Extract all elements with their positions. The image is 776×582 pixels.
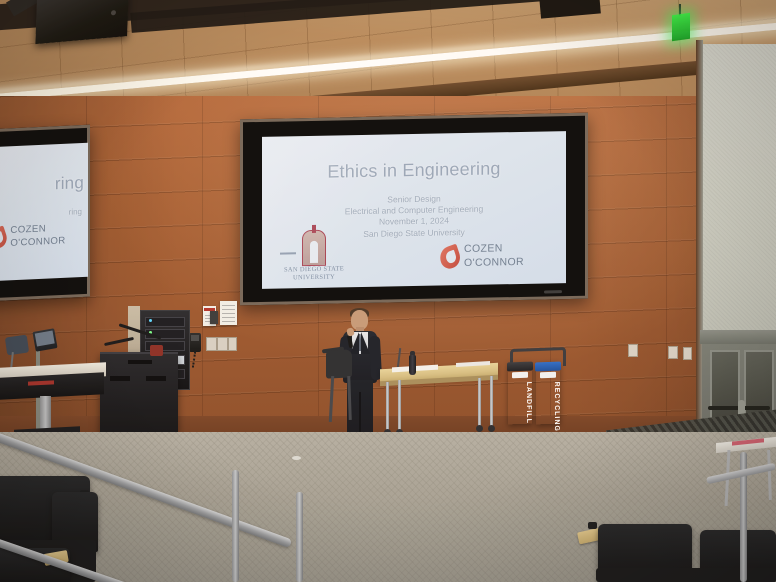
- light-switch-plate[interactable]: [217, 337, 228, 351]
- cabinet-handle[interactable]: [146, 376, 166, 381]
- table-leg: [478, 378, 481, 426]
- presenter-leg-split: [359, 392, 361, 436]
- main-projection-screen: Ethics in Engineering Senior Design Elec…: [240, 113, 588, 306]
- outlet-plate[interactable]: [628, 344, 638, 357]
- sdsu-logo-text: SAN DIEGO STATE UNIVERSITY: [278, 265, 350, 283]
- status-led: [149, 319, 152, 322]
- sdsu-line2: UNIVERSITY: [278, 273, 350, 283]
- secondary-slide-title: ring: [55, 173, 88, 195]
- flame-icon: [437, 244, 463, 271]
- bin-lid[interactable]: [507, 362, 533, 372]
- stage-chair[interactable]: [326, 349, 352, 378]
- secondary-cozen-oconnor-logo: COZEN O'CONNOR: [0, 221, 84, 253]
- cozen-line2: O'CONNOR: [464, 255, 552, 270]
- table-leg: [398, 380, 401, 430]
- notice-line: [222, 317, 235, 318]
- table-leg: [386, 382, 389, 430]
- handrail-post: [232, 470, 239, 582]
- secondary-slide-subtitle: ring: [69, 207, 88, 218]
- notice-line: [222, 321, 235, 322]
- water-bottle: [409, 355, 416, 375]
- light-switch-plate[interactable]: [228, 337, 237, 351]
- table-caster: [476, 425, 483, 432]
- seat-base: [596, 568, 776, 582]
- cabinet-vent: [128, 360, 152, 364]
- sdsu-tower-icon: [302, 230, 326, 266]
- landfill-bin: LANDFILL: [508, 362, 532, 425]
- lecture-hall-photo: ring ring COZEN O'CONNOR Ethics in Engin…: [0, 0, 776, 582]
- podium-monitor[interactable]: [32, 328, 57, 352]
- notice-line: [222, 305, 235, 306]
- wall-notice-small: [210, 311, 218, 324]
- notice-line: [222, 309, 235, 310]
- screen-bottom-nub: [544, 290, 562, 293]
- landfill-bin-label: LANDFILL: [508, 382, 532, 425]
- recycling-bin-label: RECYCLING: [536, 382, 560, 433]
- wall-notice-chart: [220, 301, 237, 325]
- slide-title: Ethics in Engineering: [262, 157, 566, 184]
- handrail-post: [296, 492, 303, 582]
- notice-line: [222, 313, 235, 314]
- light-switch-plate[interactable]: [206, 337, 217, 351]
- flame-icon: [0, 225, 9, 250]
- cozen-line2: O'CONNOR: [10, 234, 88, 250]
- seat-tablet-clip: [588, 522, 597, 529]
- cozen-oconnor-logo: COZEN O'CONNOR: [440, 241, 552, 273]
- cozen-logo-text: COZEN O'CONNOR: [464, 241, 552, 270]
- exit-sign: [672, 13, 690, 42]
- table-leg: [490, 376, 493, 426]
- cozen-logo-text: COZEN O'CONNOR: [10, 221, 88, 250]
- bin-sticker: [540, 372, 556, 379]
- outlet-plate[interactable]: [668, 346, 678, 359]
- outlet-plate[interactable]: [683, 347, 692, 360]
- table-caster: [488, 425, 495, 432]
- secondary-slide: ring ring COZEN O'CONNOR: [0, 143, 88, 283]
- bin-sticker: [512, 372, 528, 379]
- recycling-bin: RECYCLING: [536, 362, 560, 425]
- cabinet-handle[interactable]: [110, 376, 130, 381]
- bin-lid[interactable]: [535, 362, 561, 372]
- presenter: [336, 310, 384, 446]
- av-accessory: [150, 345, 163, 356]
- side-chair[interactable]: [5, 335, 29, 356]
- av-cabinet: [100, 352, 178, 432]
- presentation-slide: Ethics in Engineering Senior Design Elec…: [262, 131, 566, 289]
- door-header: [700, 330, 776, 344]
- floor-debris: [292, 456, 301, 460]
- secondary-projection-screen: ring ring COZEN O'CONNOR: [0, 125, 90, 304]
- podium-stem: [40, 396, 51, 432]
- wall-phone[interactable]: [189, 333, 201, 352]
- sdsu-logo-rule: [280, 252, 296, 254]
- sdsu-logo: SAN DIEGO STATE UNIVERSITY: [278, 229, 350, 282]
